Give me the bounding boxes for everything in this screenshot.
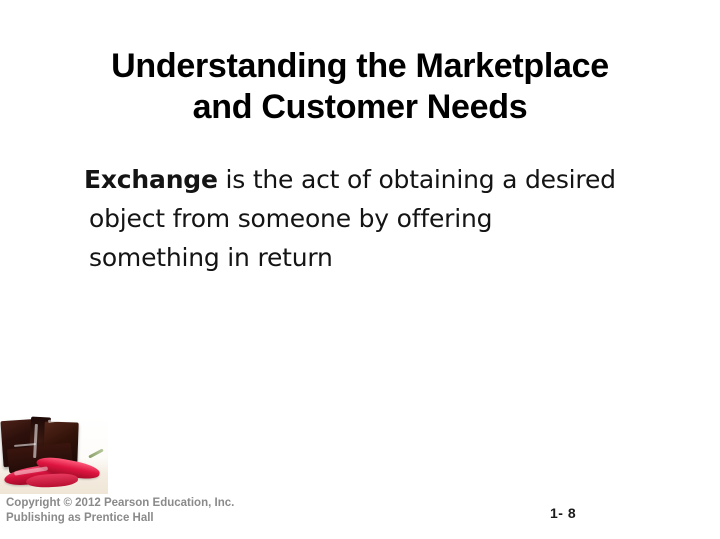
slide-body-text: Exchange is the act of obtaining a desir… [84,160,664,277]
body-lead-term: Exchange [84,165,218,194]
footer-copyright-line-2: Publishing as Prentice Hall [6,511,234,526]
footer-copyright-line-1: Copyright © 2012 Pearson Education, Inc. [6,496,234,511]
body-line-1: Exchange is the act of obtaining a desir… [84,160,664,199]
slide-title: Understanding the Marketplace and Custom… [0,46,720,128]
body-line-3: something in return [89,238,664,277]
slide-number: 1- 8 [550,505,576,521]
chocolate-chili-photo [0,416,108,494]
body-line-2: object from someone by offering [89,199,664,238]
body-line-1-rest: is the act of obtaining a desired [218,165,616,194]
slide-title-line-2: and Customer Needs [0,87,720,128]
slide-title-line-1: Understanding the Marketplace [0,46,720,87]
footer-copyright: Copyright © 2012 Pearson Education, Inc.… [6,496,234,526]
presentation-slide: Understanding the Marketplace and Custom… [0,0,720,539]
